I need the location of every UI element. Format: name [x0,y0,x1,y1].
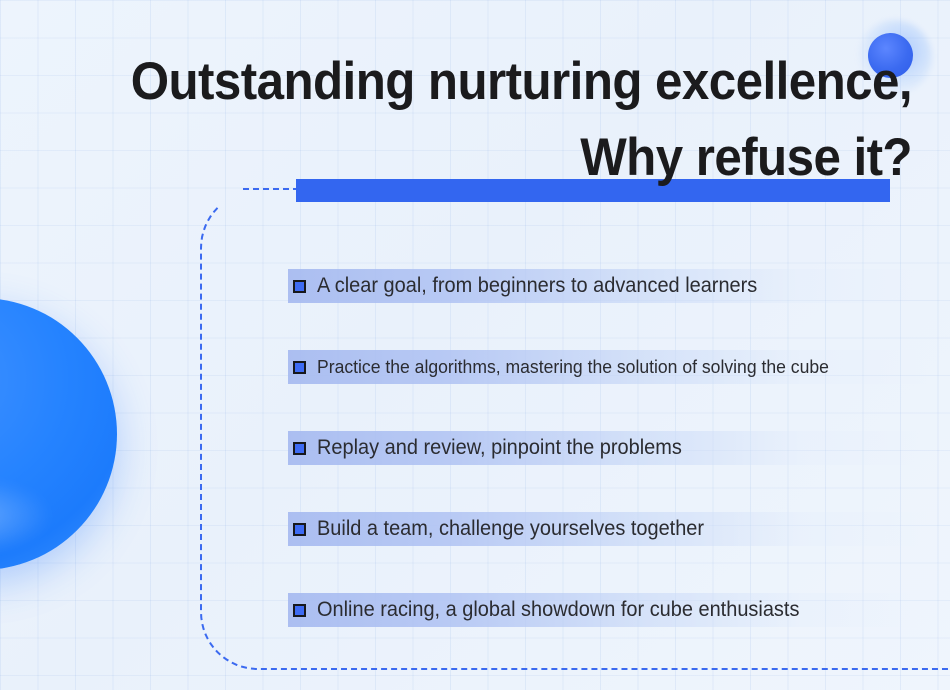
page-title: Outstanding nurturing excellence, Why re… [0,44,912,196]
list-item-label: Replay and review, pinpoint the problems [317,436,682,460]
list-item[interactable]: Build a team, challenge yourselves toget… [288,512,928,546]
slide-canvas: Outstanding nurturing excellence, Why re… [0,0,950,690]
square-bullet-icon [293,523,306,536]
large-blue-sphere-decoration [0,298,117,570]
square-bullet-icon [293,361,306,374]
list-item[interactable]: Replay and review, pinpoint the problems [288,431,928,465]
list-item-label: Build a team, challenge yourselves toget… [317,517,704,541]
list-item-label: Online racing, a global showdown for cub… [317,598,799,622]
list-item[interactable]: Online racing, a global showdown for cub… [288,593,928,627]
list-item-label: Practice the algorithms, mastering the s… [317,356,829,378]
square-bullet-icon [293,604,306,617]
title-line-2: Why refuse it? [64,120,912,196]
list-item[interactable]: Practice the algorithms, mastering the s… [288,350,928,384]
list-item[interactable]: A clear goal, from beginners to advanced… [288,269,928,303]
square-bullet-icon [293,280,306,293]
square-bullet-icon [293,442,306,455]
title-line-1: Outstanding nurturing excellence, [64,44,912,120]
feature-list: A clear goal, from beginners to advanced… [288,269,928,627]
list-item-label: A clear goal, from beginners to advanced… [317,274,757,298]
